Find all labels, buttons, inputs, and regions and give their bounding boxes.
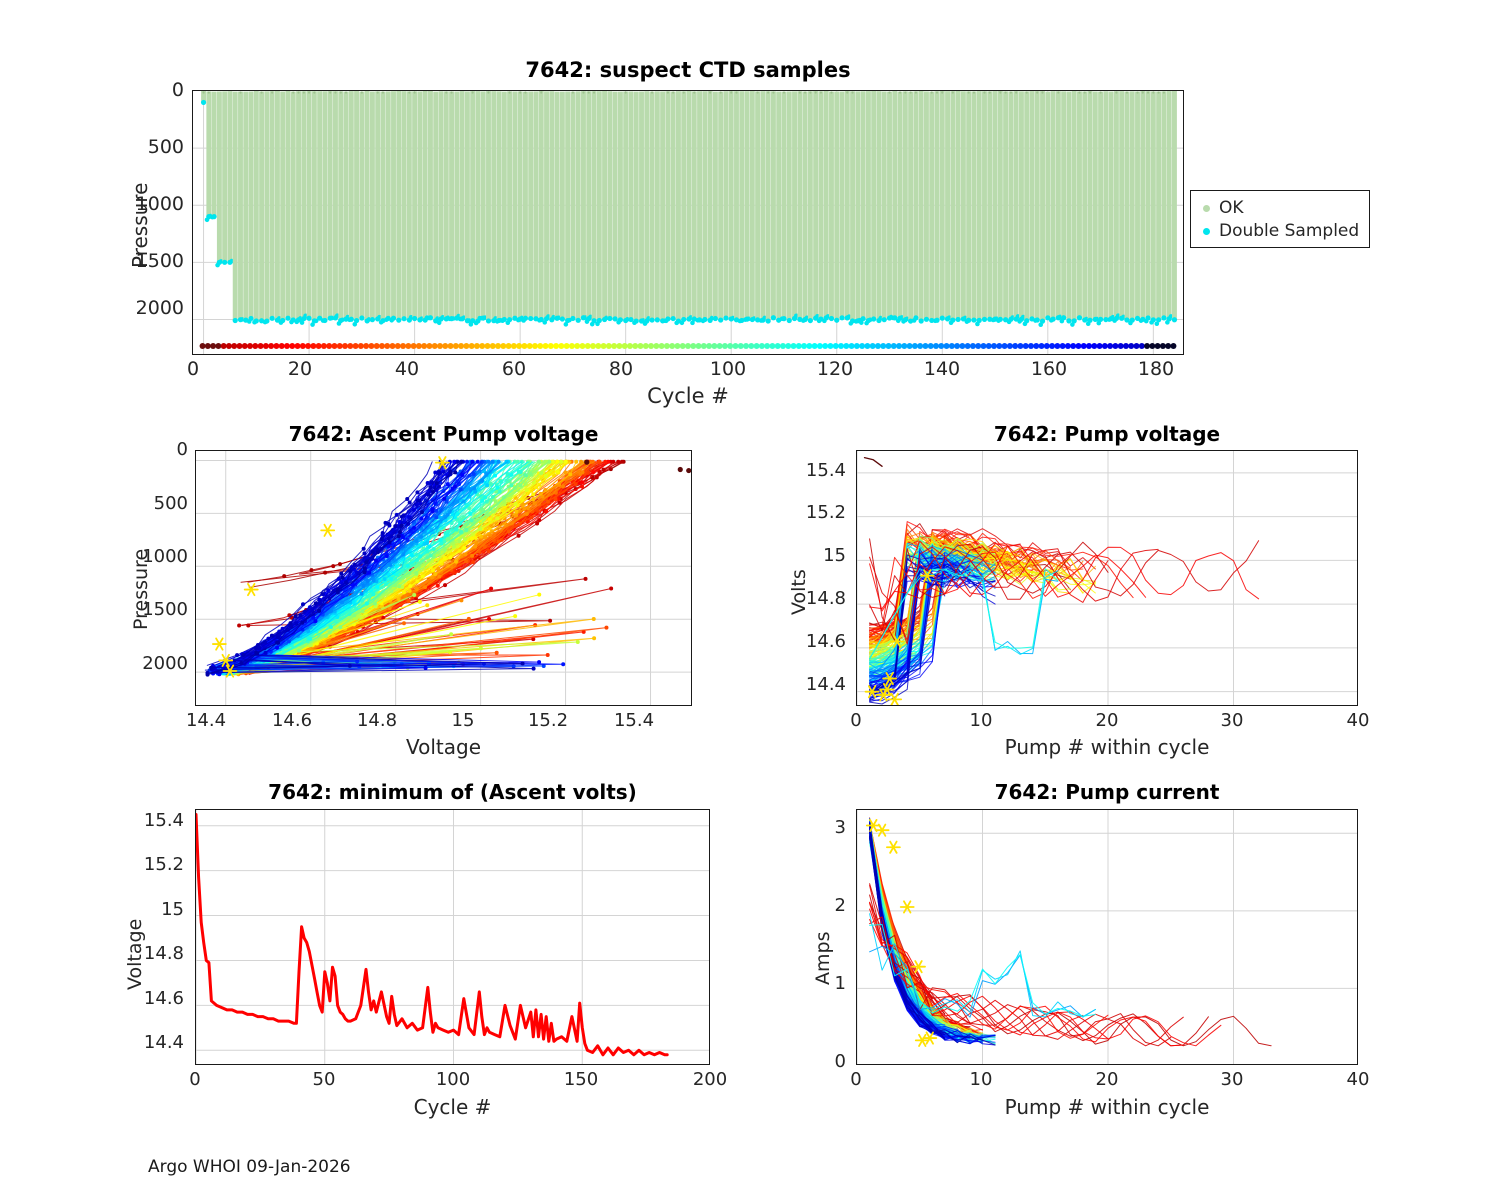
panel-pumpv-ytick-15: 15 xyxy=(790,545,846,566)
panel-minv-ytick-146: 14.6 xyxy=(126,988,184,1009)
panel-pumpv-xtick-40: 40 xyxy=(1328,710,1388,731)
panel-pumpc-plot-area xyxy=(856,809,1358,1065)
panel-ascent-title: 7642: Ascent Pump voltage xyxy=(195,422,692,446)
panel-ctd-ytick-0: 0 xyxy=(120,79,184,101)
panel-pumpv-ytick-152: 15.2 xyxy=(790,502,846,523)
panel-minv-xtick-0: 0 xyxy=(165,1069,225,1090)
panel-pumpv-ytick-148: 14.8 xyxy=(790,588,846,609)
panel-minv-xtick-200: 200 xyxy=(680,1069,740,1090)
panel-pumpc-ytick-2: 2 xyxy=(812,895,846,916)
panel-ctd-xtick-180: 180 xyxy=(1126,358,1186,380)
panel-pumpv-ytick-144: 14.4 xyxy=(790,674,846,695)
cycle-colorbar-strip xyxy=(192,337,1184,355)
legend-ok-dot xyxy=(1203,205,1210,212)
panel-ascent-ytick-500: 500 xyxy=(122,493,188,514)
panel-ctd-ytick-500: 500 xyxy=(120,136,184,158)
panel-minv-xtick-100: 100 xyxy=(423,1069,483,1090)
panel-ascent-xtick-15: 15 xyxy=(432,710,494,731)
panel-pumpc-xtick-20: 20 xyxy=(1077,1069,1137,1090)
panel-pumpv-plot-area xyxy=(856,450,1358,706)
panel-pumpc-title: 7642: Pump current xyxy=(856,780,1358,804)
panel-minv-ytick-154: 15.4 xyxy=(126,810,184,831)
legend-double-sampled-label: Double Sampled xyxy=(1219,221,1359,241)
panel-ascent-xlabel: Voltage xyxy=(195,735,692,759)
legend-double-sampled-dot xyxy=(1203,228,1210,235)
panel-ascent-ytick-0: 0 xyxy=(122,439,188,460)
panel-ascent-ytick-1500: 1500 xyxy=(122,599,188,620)
panel-pumpv-xtick-30: 30 xyxy=(1202,710,1262,731)
panel-minv-xtick-150: 150 xyxy=(551,1069,611,1090)
panel-ctd-xlabel: Cycle # xyxy=(192,384,1184,408)
panel-minv-title: 7642: minimum of (Ascent volts) xyxy=(195,780,710,804)
legend-entry-double-sampled: Double Sampled xyxy=(1203,221,1359,241)
panel-ctd-legend: OK Double Sampled xyxy=(1190,190,1370,248)
panel-ascent-ytick-1000: 1000 xyxy=(122,546,188,567)
panel-pumpc-ytick-1: 1 xyxy=(812,973,846,994)
panel-pumpc-xtick-30: 30 xyxy=(1202,1069,1262,1090)
panel-ctd-ytick-1500: 1500 xyxy=(120,250,184,272)
panel-pumpv-xlabel: Pump # within cycle xyxy=(856,735,1358,759)
panel-ctd-xtick-60: 60 xyxy=(484,358,544,380)
panel-pumpv-ytick-146: 14.6 xyxy=(790,631,846,652)
panel-ctd-xtick-20: 20 xyxy=(270,358,330,380)
panel-pumpv-xtick-10: 10 xyxy=(951,710,1011,731)
panel-ctd-xtick-80: 80 xyxy=(591,358,651,380)
panel-ascent-xtick-152: 15.2 xyxy=(517,710,579,731)
panel-pumpv-title: 7642: Pump voltage xyxy=(856,422,1358,446)
panel-pumpc-xlabel: Pump # within cycle xyxy=(856,1095,1358,1119)
panel-ctd-xtick-120: 120 xyxy=(805,358,865,380)
panel-pumpc-xtick-40: 40 xyxy=(1328,1069,1388,1090)
panel-ctd-title: 7642: suspect CTD samples xyxy=(192,58,1184,82)
panel-ascent-xtick-144: 14.4 xyxy=(175,710,237,731)
panel-ctd-ytick-2000: 2000 xyxy=(120,297,184,319)
panel-ctd-ytick-1000: 1000 xyxy=(120,193,184,215)
panel-ascent-plot-area xyxy=(195,450,692,706)
panel-pumpc-xtick-0: 0 xyxy=(826,1069,886,1090)
panel-pumpc-xtick-10: 10 xyxy=(951,1069,1011,1090)
panel-pumpc-ytick-3: 3 xyxy=(812,817,846,838)
panel-minv-ytick-152: 15.2 xyxy=(126,854,184,875)
panel-minv-xtick-50: 50 xyxy=(294,1069,354,1090)
panel-pumpv-ytick-154: 15.4 xyxy=(790,460,846,481)
panel-ctd-xtick-40: 40 xyxy=(377,358,437,380)
legend-ok-label: OK xyxy=(1219,198,1244,218)
panel-ctd-plot-area xyxy=(192,90,1184,355)
panel-ascent-ytick-2000: 2000 xyxy=(122,653,188,674)
panel-ctd-xtick-140: 140 xyxy=(912,358,972,380)
panel-minv-plot-area xyxy=(195,809,710,1065)
panel-ctd-xtick-100: 100 xyxy=(698,358,758,380)
figure-footer: Argo WHOI 09-Jan-2026 xyxy=(148,1157,351,1177)
panel-ctd-xtick-160: 160 xyxy=(1019,358,1079,380)
panel-ascent-xtick-154: 15.4 xyxy=(603,710,665,731)
panel-ctd-xtick-0: 0 xyxy=(163,358,223,380)
panel-ascent-xtick-148: 14.8 xyxy=(346,710,408,731)
panel-minv-ytick-144: 14.4 xyxy=(126,1032,184,1053)
panel-ascent-xtick-146: 14.6 xyxy=(261,710,323,731)
panel-minv-xlabel: Cycle # xyxy=(195,1095,710,1119)
legend-entry-ok: OK xyxy=(1203,198,1244,218)
panel-minv-ytick-15: 15 xyxy=(126,899,184,920)
panel-pumpv-xtick-20: 20 xyxy=(1077,710,1137,731)
panel-minv-ytick-148: 14.8 xyxy=(126,943,184,964)
panel-pumpv-xtick-0: 0 xyxy=(826,710,886,731)
